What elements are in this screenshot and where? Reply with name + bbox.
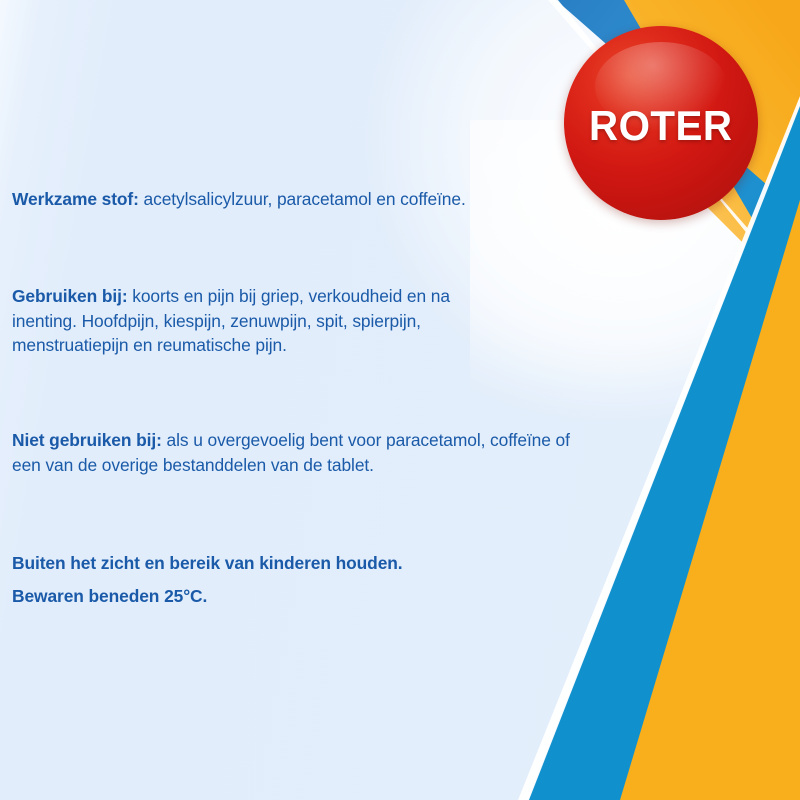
section-indications: Gebruiken bij: koorts en pijn bij griep,… <box>12 284 482 358</box>
warning-keep-away-from-children: Buiten het zicht en bereik van kinderen … <box>12 547 572 580</box>
leaflet-content: Werkzame stof: acetylsalicylzuur, parace… <box>12 0 612 800</box>
warning-storage-temperature: Bewaren beneden 25°C. <box>12 580 572 613</box>
section-active-substance: Werkzame stof: acetylsalicylzuur, parace… <box>12 187 592 212</box>
section-storage-warnings: Buiten het zicht en bereik van kinderen … <box>12 547 572 613</box>
section-heading: Gebruiken bij: <box>12 286 128 306</box>
section-body: acetylsalicylzuur, paracetamol en coffeï… <box>139 189 466 209</box>
package-leaflet-panel: ROTER Werkzame stof: acetylsalicylzuur, … <box>0 0 800 800</box>
section-heading: Niet gebruiken bij: <box>12 430 162 450</box>
section-heading: Werkzame stof: <box>12 189 139 209</box>
section-contraindications: Niet gebruiken bij: als u overgevoelig b… <box>12 428 572 477</box>
